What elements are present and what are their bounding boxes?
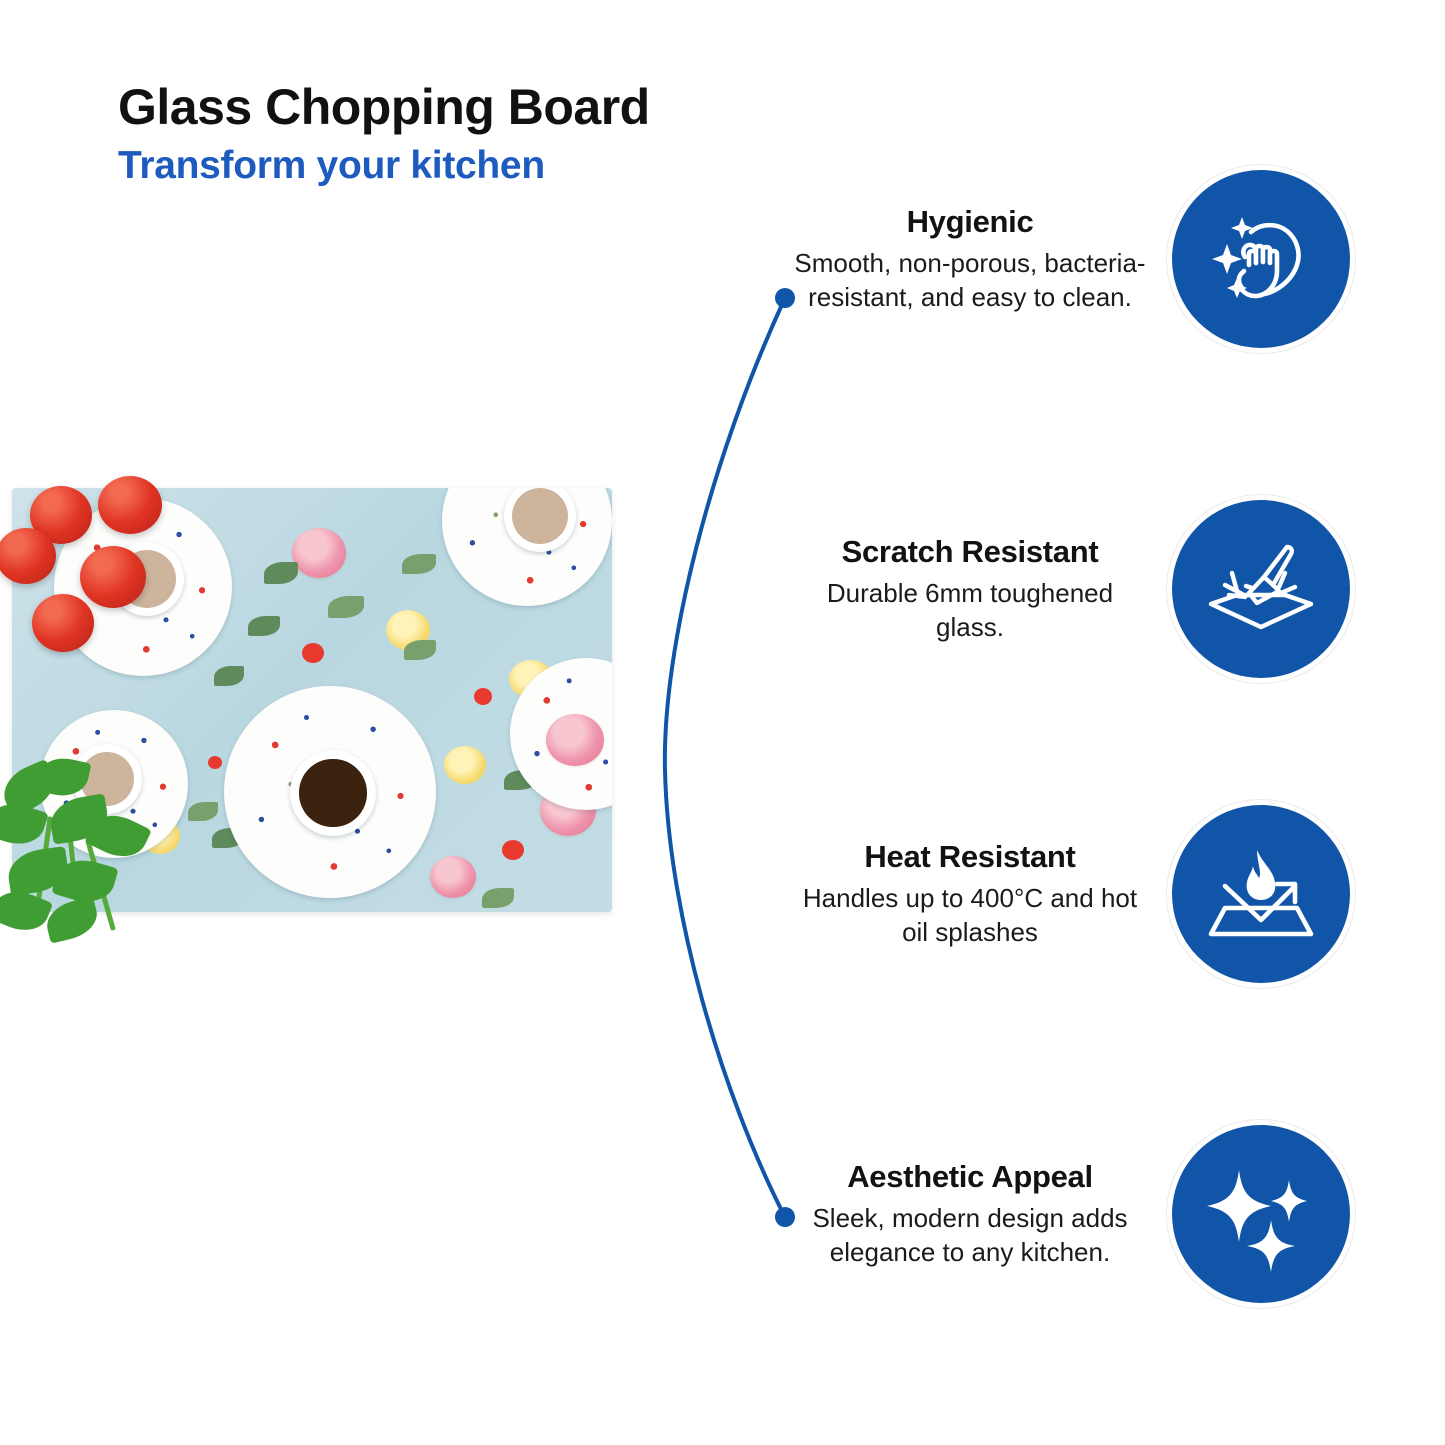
- feature-title: Hygienic: [790, 204, 1150, 240]
- coffee-liquid: [299, 759, 366, 826]
- parsley-bunch: [0, 764, 174, 936]
- feature-text-heat-resistant: Heat Resistant Handles up to 400°C and h…: [790, 839, 1150, 949]
- feature-title: Heat Resistant: [790, 839, 1150, 875]
- board-red-bud: [208, 756, 222, 769]
- feature-text-aesthetic-appeal: Aesthetic Appeal Sleek, modern design ad…: [790, 1159, 1150, 1269]
- feature-title: Scratch Resistant: [790, 534, 1150, 570]
- feature-text-scratch-resistant: Scratch Resistant Durable 6mm toughened …: [790, 534, 1150, 644]
- page-title: Glass Chopping Board: [118, 80, 650, 135]
- hand-wipe-sparkle-icon: [1201, 199, 1321, 319]
- board-yellow-flower: [444, 746, 486, 784]
- board-rose-flower: [292, 528, 346, 578]
- tomato: [32, 594, 94, 652]
- teacup: [290, 750, 376, 836]
- board-rose-flower: [430, 856, 476, 898]
- feature-description: Sleek, modern design adds elegance to an…: [790, 1201, 1150, 1270]
- feature-title: Aesthetic Appeal: [790, 1159, 1150, 1195]
- flame-deflect-arrow-icon: [1201, 834, 1321, 954]
- product-image: [12, 488, 612, 912]
- page-subtitle: Transform your kitchen: [118, 145, 650, 188]
- header-block: Glass Chopping Board Transform your kitc…: [118, 80, 650, 188]
- tomato: [80, 546, 146, 608]
- board-rose-flower: [546, 714, 604, 766]
- feature-description: Smooth, non-porous, bacteria-resistant, …: [790, 246, 1150, 315]
- infographic-canvas: Glass Chopping Board Transform your kitc…: [0, 0, 1445, 1445]
- feature-row-hygienic: Hygienic Smooth, non-porous, bacteria-re…: [790, 170, 1350, 348]
- feature-icon-badge-hygienic: [1172, 170, 1350, 348]
- feature-row-aesthetic-appeal: Aesthetic Appeal Sleek, modern design ad…: [790, 1125, 1350, 1303]
- feature-icon-badge-heat-resistant: [1172, 805, 1350, 983]
- board-red-bud: [474, 688, 492, 705]
- feature-row-heat-resistant: Heat Resistant Handles up to 400°C and h…: [790, 805, 1350, 983]
- board-red-bud: [302, 643, 324, 663]
- tea-liquid: [512, 488, 568, 544]
- feature-description: Handles up to 400°C and hot oil splashes: [790, 881, 1150, 950]
- feature-icon-badge-scratch-resistant: [1172, 500, 1350, 678]
- feature-icon-badge-aesthetic-appeal: [1172, 1125, 1350, 1303]
- board-red-bud: [502, 840, 524, 860]
- feature-description: Durable 6mm toughened glass.: [790, 576, 1150, 645]
- tomato: [98, 476, 162, 534]
- feature-text-hygienic: Hygienic Smooth, non-porous, bacteria-re…: [790, 204, 1150, 314]
- feature-row-scratch-resistant: Scratch Resistant Durable 6mm toughened …: [790, 500, 1350, 678]
- knife-impact-surface-icon: [1201, 529, 1321, 649]
- sparkles-icon: [1201, 1154, 1321, 1274]
